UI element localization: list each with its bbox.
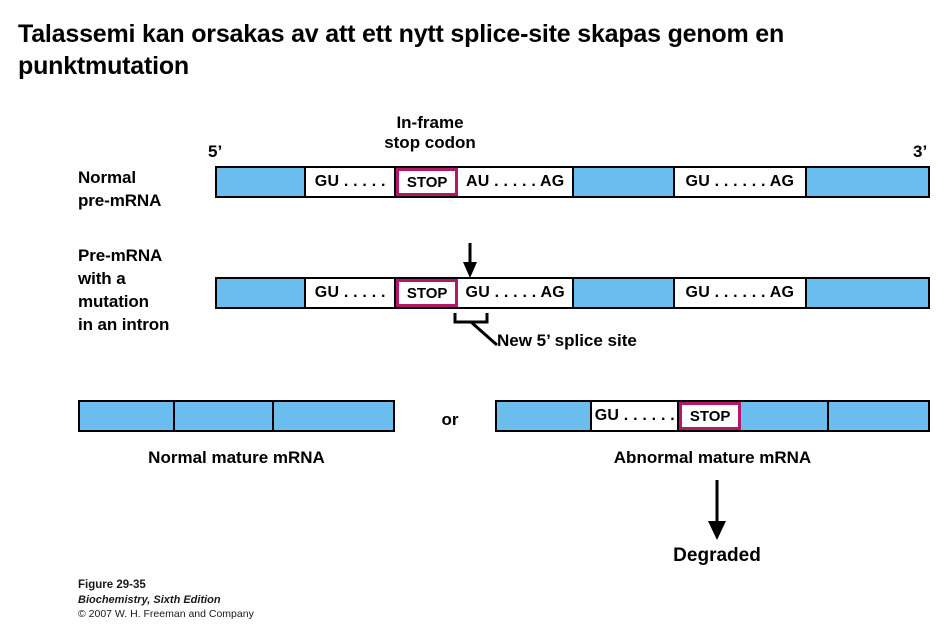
mrna-segment-label: STOP [407, 174, 448, 191]
mrna-segment-label: GU . . . . . AG [466, 284, 565, 302]
mrna-segment-label: GU . . . . . . AG [686, 173, 795, 191]
mrna-segment-exon[interactable] [807, 168, 929, 196]
mrna-segment-intron[interactable]: GU . . . . . . [592, 402, 679, 430]
mrna-segment-exon[interactable] [217, 168, 306, 196]
mrna-bar-normal-mature-mrna[interactable] [78, 400, 395, 432]
mrna-segment-stop[interactable]: STOP [396, 168, 458, 196]
row-label-line: in an intron [78, 314, 169, 337]
five-prime-label: 5’ [208, 142, 222, 162]
degraded-label: Degraded [617, 545, 817, 568]
mrna-segment-exon[interactable] [497, 402, 592, 430]
mrna-segment-stop[interactable]: STOP [396, 279, 458, 307]
mrna-segment-intron[interactable]: GU . . . . . . AG [675, 168, 806, 196]
mrna-bar-abnormal-mature-mrna[interactable]: GU . . . . . .STOP [495, 400, 930, 432]
mrna-segment-exon[interactable] [80, 402, 175, 430]
new-splice-site-annotation: New 5’ splice site [497, 331, 757, 351]
row-label-line: Pre-mRNA [78, 245, 169, 268]
mrna-segment-intron[interactable]: GU . . . . . AG [458, 279, 574, 307]
mrna-segment-label: GU . . . . . . AG [686, 284, 795, 302]
annotation-line: stop codon [330, 133, 530, 153]
row-label-line: with a [78, 268, 169, 291]
mrna-segment-label: GU . . . . . [315, 173, 386, 191]
caption-copyright: © 2007 W. H. Freeman and Company [78, 608, 254, 622]
annotation-line: In-frame [330, 113, 530, 133]
mrna-segment-label: AU . . . . . AG [466, 173, 564, 191]
mrna-segment-exon[interactable] [574, 168, 675, 196]
mutation-arrow-icon [463, 243, 477, 278]
mrna-segment-label: GU . . . . . . [595, 407, 675, 425]
mrna-segment-exon[interactable] [741, 402, 829, 430]
mrna-segment-exon[interactable] [574, 279, 675, 307]
mrna-segment-exon[interactable] [829, 402, 928, 430]
caption-figure-number: Figure 29-35 [78, 578, 254, 593]
mrna-segment-intron[interactable]: GU . . . . . [306, 279, 395, 307]
row-label-mutant-pre-mrna: Pre-mRNA with a mutation in an intron [78, 245, 169, 337]
three-prime-label: 3’ [913, 142, 927, 162]
mrna-segment-exon[interactable] [274, 402, 393, 430]
mrna-segment-exon[interactable] [175, 402, 274, 430]
mrna-segment-label: GU . . . . . [315, 284, 386, 302]
mrna-segment-intron[interactable]: AU . . . . . AG [458, 168, 574, 196]
in-frame-stop-codon-annotation: In-frame stop codon [330, 113, 530, 154]
or-label: or [430, 410, 470, 430]
mrna-segment-exon[interactable] [807, 279, 929, 307]
figure-caption: Figure 29-35 Biochemistry, Sixth Edition… [78, 578, 254, 622]
caption-book-title: Biochemistry, Sixth Edition [78, 593, 254, 608]
mrna-bar-mutant-pre-mrna[interactable]: GU . . . . .STOPGU . . . . . AGGU . . . … [215, 277, 930, 309]
page-title: Talassemi kan orsakas av att ett nytt sp… [18, 18, 918, 82]
row-label-line: Normal [78, 167, 161, 190]
row-label-normal-pre-mrna: Normal pre-mRNA [78, 167, 161, 213]
new-splice-site-bracket-icon [455, 313, 497, 345]
normal-mature-mrna-label: Normal mature mRNA [78, 448, 395, 468]
mrna-bar-normal-pre-mrna[interactable]: GU . . . . .STOPAU . . . . . AGGU . . . … [215, 166, 930, 198]
row-label-line: pre-mRNA [78, 190, 161, 213]
mrna-segment-stop[interactable]: STOP [679, 402, 741, 430]
row-label-line: mutation [78, 291, 169, 314]
mrna-segment-exon[interactable] [217, 279, 306, 307]
mrna-segment-label: STOP [690, 408, 731, 425]
degradation-arrow-icon [708, 480, 726, 540]
mrna-segment-label: STOP [407, 285, 448, 302]
mrna-segment-intron[interactable]: GU . . . . . . AG [675, 279, 806, 307]
abnormal-mature-mrna-label: Abnormal mature mRNA [495, 448, 930, 468]
mrna-segment-intron[interactable]: GU . . . . . [306, 168, 395, 196]
